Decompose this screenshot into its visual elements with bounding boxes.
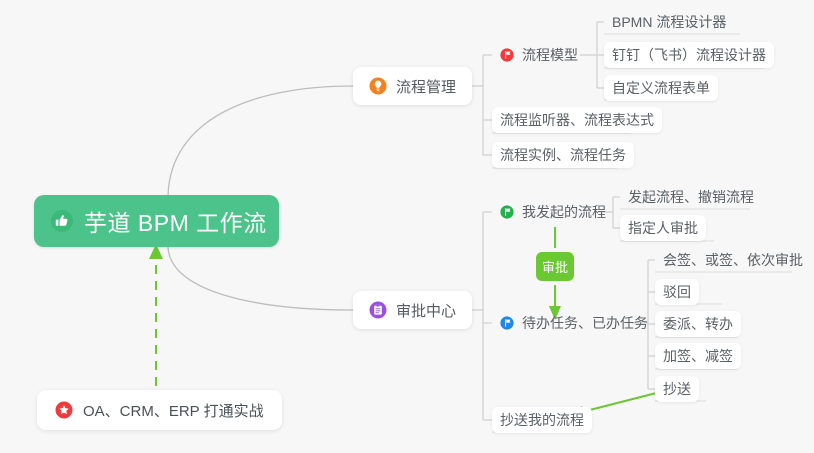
node-bpmn-designer[interactable]: BPMN 流程设计器	[604, 9, 734, 35]
node-countersign[interactable]: 会签、或签、依次审批	[655, 247, 811, 273]
label-process-instance: 流程实例、流程任务	[500, 145, 626, 165]
node-cc-to-me-process[interactable]: 抄送我的流程	[492, 407, 592, 433]
label-custom-process-form: 自定义流程表单	[612, 78, 710, 98]
node-dingtalk-feishu-designer[interactable]: 钉钉（飞书）流程设计器	[604, 42, 774, 68]
branch-label-approval-center: 审批中心	[396, 300, 456, 321]
label-assignee-approval: 指定人审批	[628, 218, 698, 238]
mindmap-canvas: 芋道 BPM 工作流 流程管理 流程模型 BPMN 流程设计器 钉钉（飞书）流	[0, 0, 814, 453]
flag-icon	[500, 48, 514, 62]
note-node-integration[interactable]: OA、CRM、ERP 打通实战	[37, 390, 282, 430]
label-add-remove-sign: 加签、减签	[663, 346, 733, 366]
flag-icon	[500, 316, 514, 330]
label-cc: 抄送	[663, 379, 691, 399]
label-dingtalk-feishu-designer: 钉钉（飞书）流程设计器	[612, 45, 766, 65]
node-process-listener[interactable]: 流程监听器、流程表达式	[492, 107, 662, 133]
lightbulb-icon	[369, 77, 387, 95]
root-label: 芋道 BPM 工作流	[84, 204, 267, 238]
node-add-remove-sign[interactable]: 加签、减签	[655, 343, 741, 369]
callout-tag-label: 审批	[542, 257, 568, 276]
label-process-model: 流程模型	[522, 45, 578, 65]
thumbs-up-icon	[50, 209, 74, 233]
label-cc-to-me-process: 抄送我的流程	[500, 410, 584, 430]
node-assignee-approval[interactable]: 指定人审批	[620, 215, 706, 241]
label-reject: 驳回	[663, 282, 691, 302]
note-label: OA、CRM、ERP 打通实战	[83, 400, 264, 421]
branch-node-process-management[interactable]: 流程管理	[353, 67, 472, 105]
node-process-model[interactable]: 流程模型	[492, 42, 586, 68]
label-bpmn-designer: BPMN 流程设计器	[612, 12, 726, 32]
branch-node-approval-center[interactable]: 审批中心	[353, 291, 472, 329]
node-cc[interactable]: 抄送	[655, 376, 699, 402]
flag-icon	[500, 205, 514, 219]
label-my-initiated-process: 我发起的流程	[522, 202, 606, 222]
label-countersign: 会签、或签、依次审批	[663, 250, 803, 270]
label-delegate-transfer: 委派、转办	[663, 314, 733, 334]
clipboard-icon	[369, 301, 387, 319]
root-node[interactable]: 芋道 BPM 工作流	[34, 195, 279, 247]
star-icon	[55, 401, 73, 419]
node-my-initiated-process[interactable]: 我发起的流程	[492, 199, 614, 225]
label-todo-done-tasks: 待办任务、已办任务	[522, 313, 648, 333]
label-start-cancel-process: 发起流程、撤销流程	[628, 187, 754, 207]
wire-root-to-approval-center	[168, 247, 353, 310]
node-custom-process-form[interactable]: 自定义流程表单	[604, 75, 718, 101]
wire-root-to-process-management	[168, 86, 353, 196]
callout-tag-approval[interactable]: 审批	[536, 252, 574, 281]
node-delegate-transfer[interactable]: 委派、转办	[655, 311, 741, 337]
branch-label-process-management: 流程管理	[396, 76, 456, 97]
node-reject[interactable]: 驳回	[655, 279, 699, 305]
node-start-cancel-process[interactable]: 发起流程、撤销流程	[620, 184, 762, 210]
label-process-listener: 流程监听器、流程表达式	[500, 110, 654, 130]
node-process-instance[interactable]: 流程实例、流程任务	[492, 142, 634, 168]
node-todo-done-tasks[interactable]: 待办任务、已办任务	[492, 310, 656, 336]
